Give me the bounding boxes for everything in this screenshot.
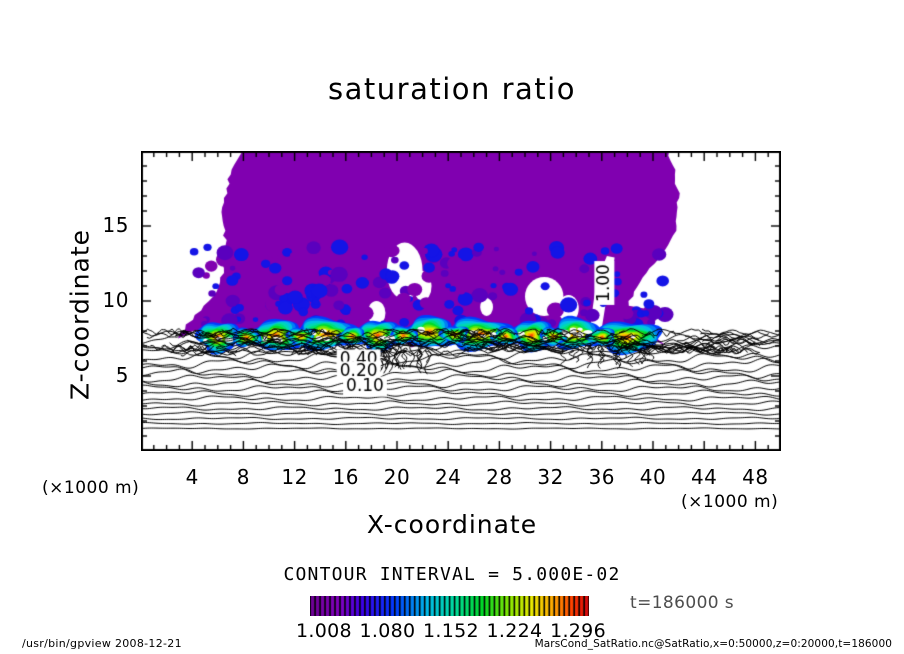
colorbar-tick-label: 1.152 bbox=[423, 620, 479, 642]
x-tick-label: 8 bbox=[218, 465, 268, 489]
figure-canvas: saturation ratio Z-coordinate X-coordina… bbox=[0, 0, 904, 654]
x-tick-label: 44 bbox=[679, 465, 729, 489]
contour-plot-canvas bbox=[141, 151, 781, 451]
x-tick-label: 24 bbox=[423, 465, 473, 489]
x-tick-label: 32 bbox=[526, 465, 576, 489]
x-tick-label: 4 bbox=[167, 465, 217, 489]
x-axis-unit-left: (×1000 m) bbox=[42, 478, 139, 498]
y-tick-label: 5 bbox=[83, 363, 129, 387]
colorbar-caption: CONTOUR INTERVAL = 5.000E-02 bbox=[0, 564, 904, 585]
colorbar-gradient bbox=[310, 596, 589, 616]
colorbar-tick-label: 1.008 bbox=[296, 620, 352, 642]
x-axis-unit-right: (×1000 m) bbox=[681, 492, 778, 512]
footer-source: MarsCond_SatRatio.nc@SatRatio,x=0:50000,… bbox=[535, 638, 892, 650]
x-tick-label: 48 bbox=[730, 465, 780, 489]
y-tick-label: 15 bbox=[83, 213, 129, 237]
page-title: saturation ratio bbox=[0, 72, 904, 106]
x-tick-label: 16 bbox=[321, 465, 371, 489]
x-tick-label: 40 bbox=[628, 465, 678, 489]
x-tick-label: 20 bbox=[372, 465, 422, 489]
footer-command: /usr/bin/gpview 2008-12-21 bbox=[22, 637, 182, 650]
x-tick-label: 36 bbox=[577, 465, 627, 489]
colorbar-tick-label: 1.080 bbox=[360, 620, 416, 642]
time-label: t=186000 s bbox=[630, 593, 734, 613]
x-axis-title: X-coordinate bbox=[0, 510, 904, 539]
y-tick-label: 10 bbox=[83, 288, 129, 312]
x-tick-label: 12 bbox=[270, 465, 320, 489]
x-tick-label: 28 bbox=[474, 465, 524, 489]
colorbar bbox=[310, 596, 589, 616]
